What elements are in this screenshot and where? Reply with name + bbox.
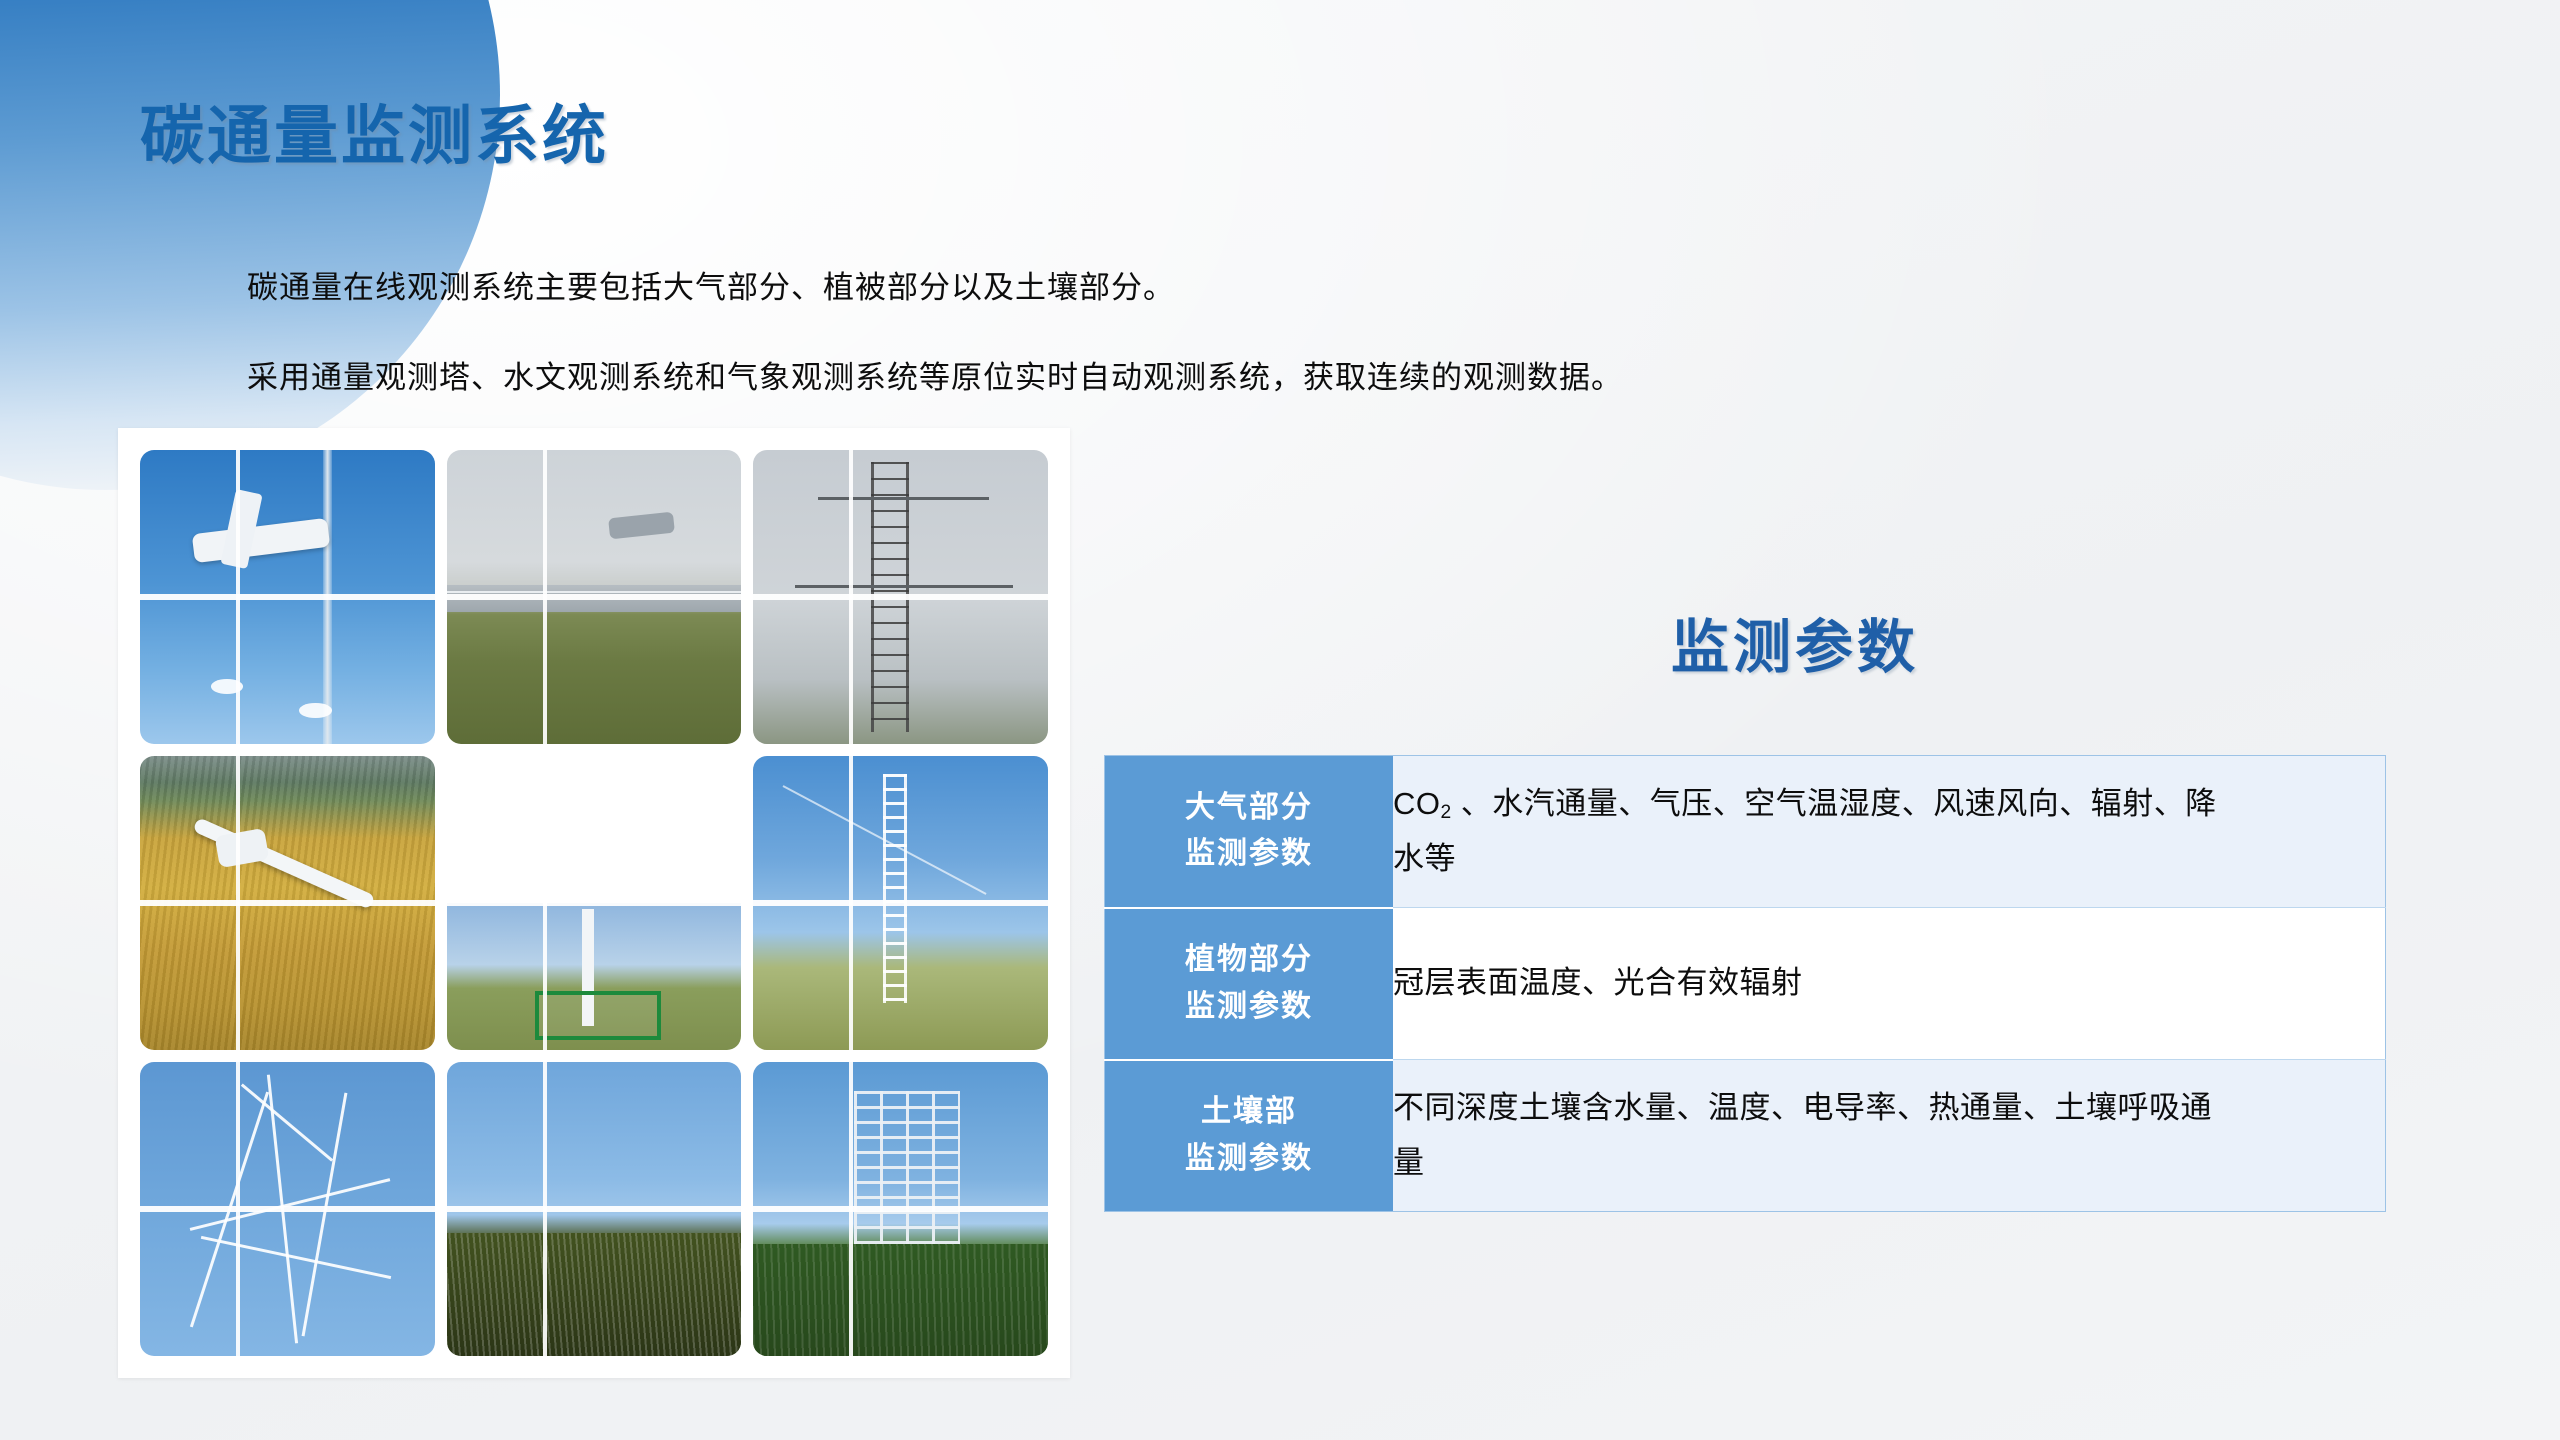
photo-strut-shape [190,1178,391,1231]
photo-mast-shape [323,450,332,744]
monitoring-parameters-table: 大气部分 监测参数 CO2 、水汽通量、气压、空气温湿度、风速风向、辐射、降 水… [1104,755,2386,1212]
photo-strut-shape [301,1093,347,1337]
collage-photo-5 [447,756,742,1050]
table-cell-value-soil: 不同深度土壤含水量、温度、电导率、热通量、土壤呼吸通 量 [1393,1060,2386,1212]
photo-collage-card [118,428,1070,1378]
value-line-1-rest: 、水汽通量、气压、空气温湿度、风速风向、辐射、降 [1452,786,2217,821]
photo-strut-shape [201,1236,392,1279]
photo-crop-field-shape [753,1244,1048,1356]
photo-tower-arm-shape [818,497,989,500]
co2-subscript: 2 [1441,802,1452,823]
category-line-1: 大气部分 [1105,785,1393,832]
photo-strut-shape [190,1091,269,1327]
category-line-2: 监测参数 [1105,984,1393,1031]
co2-text: CO [1393,786,1441,821]
photo-tower-arm-shape-2 [795,585,1013,588]
photo-water-shape [447,585,742,611]
category-line-2: 监测参数 [1105,1136,1393,1183]
photo-fence-shape [447,591,742,593]
table-cell-value-atmosphere: CO2 、水汽通量、气压、空气温湿度、风速风向、辐射、降 水等 [1393,756,2386,908]
collage-photo-6 [753,756,1048,1050]
table-cell-category-atmosphere: 大气部分 监测参数 [1105,756,1394,908]
collage-photo-4 [140,756,435,1050]
photo-sensor-head-shape [214,828,269,869]
photo-tower-shape [871,462,909,732]
collage-photo-1 [140,450,435,744]
slide-canvas: 碳通量监测系统 碳通量在线观测系统主要包括大气部分、植被部分以及土壤部分。 采用… [0,0,2560,1440]
collage-photo-3 [753,450,1048,744]
value-line-1: 不同深度土壤含水量、温度、电导率、热通量、土壤呼吸通 [1393,1081,2385,1135]
photo-tower-shape [883,774,907,1003]
collage-photo-9 [753,1062,1048,1356]
table-row: 大气部分 监测参数 CO2 、水汽通量、气压、空气温湿度、风速风向、辐射、降 水… [1105,756,2386,908]
value-line-2: 水等 [1393,832,2385,886]
collage-photo-7 [140,1062,435,1356]
value-line-1: CO2 、水汽通量、气压、空气温湿度、风速风向、辐射、降 [1393,777,2385,831]
value-line-2: 量 [1393,1136,2385,1190]
table-row: 土壤部 监测参数 不同深度土壤含水量、温度、电导率、热通量、土壤呼吸通 量 [1105,1060,2386,1212]
body-paragraph-1: 碳通量在线观测系统主要包括大气部分、植被部分以及土壤部分。 [247,262,1175,307]
page-title: 碳通量监测系统 [140,85,609,177]
table-cell-category-vegetation: 植物部分 监测参数 [1105,908,1394,1060]
collage-photo-2 [447,450,742,744]
category-line-1: 土壤部 [1105,1089,1393,1136]
photo-probe-shape [608,511,675,538]
collage-photo-8 [447,1062,742,1356]
table-cell-category-soil: 土壤部 监测参数 [1105,1060,1394,1212]
photo-cloud-shape [299,703,331,718]
monitoring-parameters-heading: 监测参数 [1671,600,1919,684]
value-line-1: 冠层表面温度、光合有效辐射 [1393,956,2385,1010]
photo-green-cage-shape [535,991,661,1040]
photo-cloud-shape [211,679,243,694]
photo-collage-grid [140,450,1048,1356]
body-paragraph-2: 采用通量观测塔、水文观测系统和气象观测系统等原位实时自动观测系统，获取连续的观测… [247,352,1623,397]
photo-scaffold-shape [854,1091,960,1262]
category-line-2: 监测参数 [1105,831,1393,878]
photo-sensor-shape [192,518,330,564]
table-cell-value-vegetation: 冠层表面温度、光合有效辐射 [1393,908,2386,1060]
category-line-1: 植物部分 [1105,937,1393,984]
table-row: 植物部分 监测参数 冠层表面温度、光合有效辐射 [1105,908,2386,1060]
